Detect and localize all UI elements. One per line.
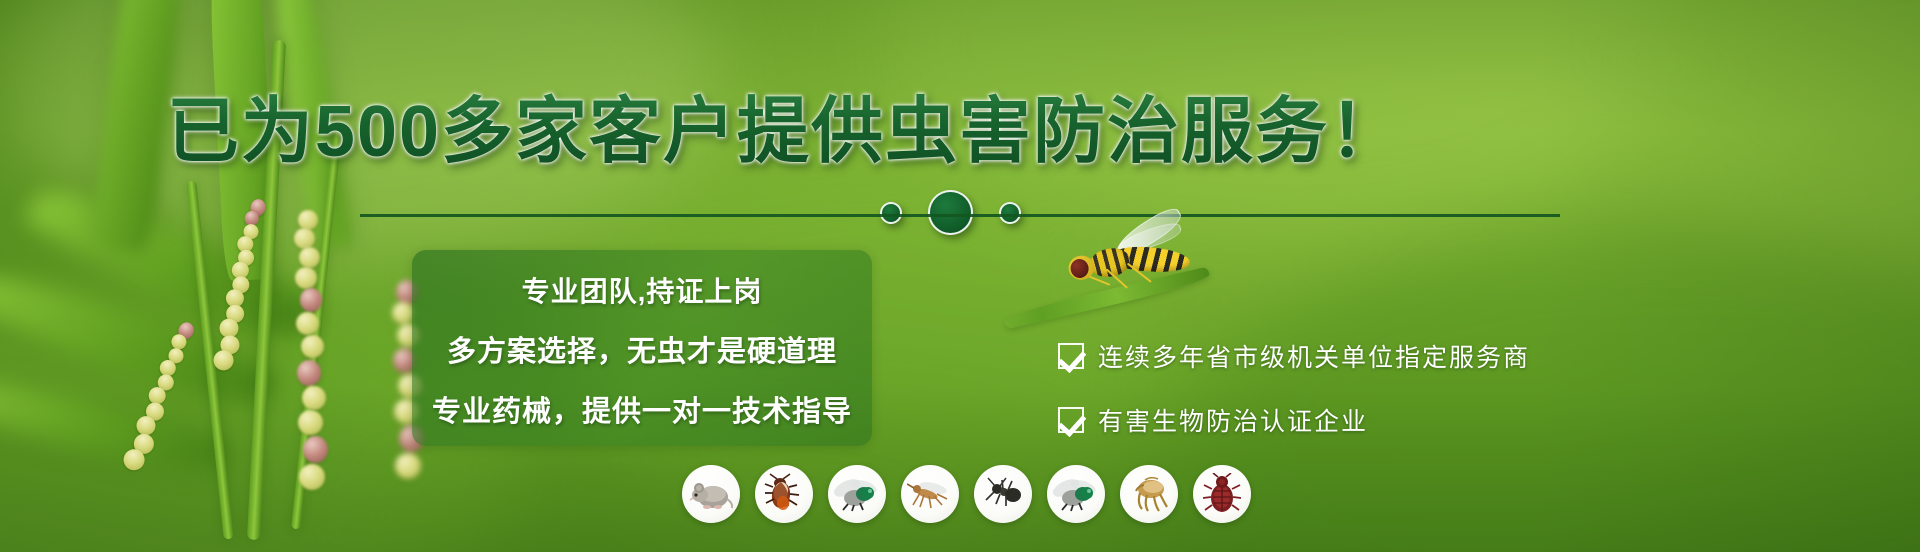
pest-icon-row xyxy=(682,465,1251,523)
list-item: 有害生物防治认证企业 xyxy=(1058,402,1530,438)
cockroach-icon[interactable] xyxy=(755,465,813,523)
checklist-label: 连续多年省市级机关单位指定服务商 xyxy=(1098,338,1530,374)
credentials-checklist: 连续多年省市级机关单位指定服务商 有害生物防治认证企业 xyxy=(1058,338,1530,438)
checklist-label: 有害生物防治认证企业 xyxy=(1098,402,1368,438)
slogan-line-3: 专业药械，提供一对一技术指导 xyxy=(432,388,852,430)
slogan-line-1: 专业团队,持证上岗 xyxy=(522,270,763,310)
blowfly-icon[interactable] xyxy=(1047,465,1105,523)
slogan-line-2: 多方案选择，无虫才是硬道理 xyxy=(447,328,837,370)
flea-icon[interactable] xyxy=(1120,465,1178,523)
bedbug-icon[interactable] xyxy=(1193,465,1251,523)
ant-icon[interactable] xyxy=(974,465,1032,523)
mosquito-icon[interactable] xyxy=(901,465,959,523)
check-square-icon xyxy=(1058,343,1084,369)
divider xyxy=(360,214,1560,217)
decor-dots-group xyxy=(880,190,1021,235)
decor-dot-small-left xyxy=(880,202,902,224)
mouse-icon[interactable] xyxy=(682,465,740,523)
fly-icon[interactable] xyxy=(828,465,886,523)
decor-dot-large-center xyxy=(928,190,973,235)
decor-dot-small-right xyxy=(999,202,1021,224)
hoverfly-icon xyxy=(1020,228,1220,328)
list-item: 连续多年省市级机关单位指定服务商 xyxy=(1058,338,1530,374)
check-square-icon xyxy=(1058,407,1084,433)
pest-control-hero-banner: 已为500多家客户提供虫害防治服务！ 专业团队,持证上岗 多方案选择，无虫才是硬… xyxy=(0,0,1920,552)
page-title: 已为500多家客户提供虫害防治服务！ xyxy=(0,72,1570,177)
slogan-text-group: 专业团队,持证上岗 多方案选择，无虫才是硬道理 专业药械，提供一对一技术指导 xyxy=(392,252,892,448)
